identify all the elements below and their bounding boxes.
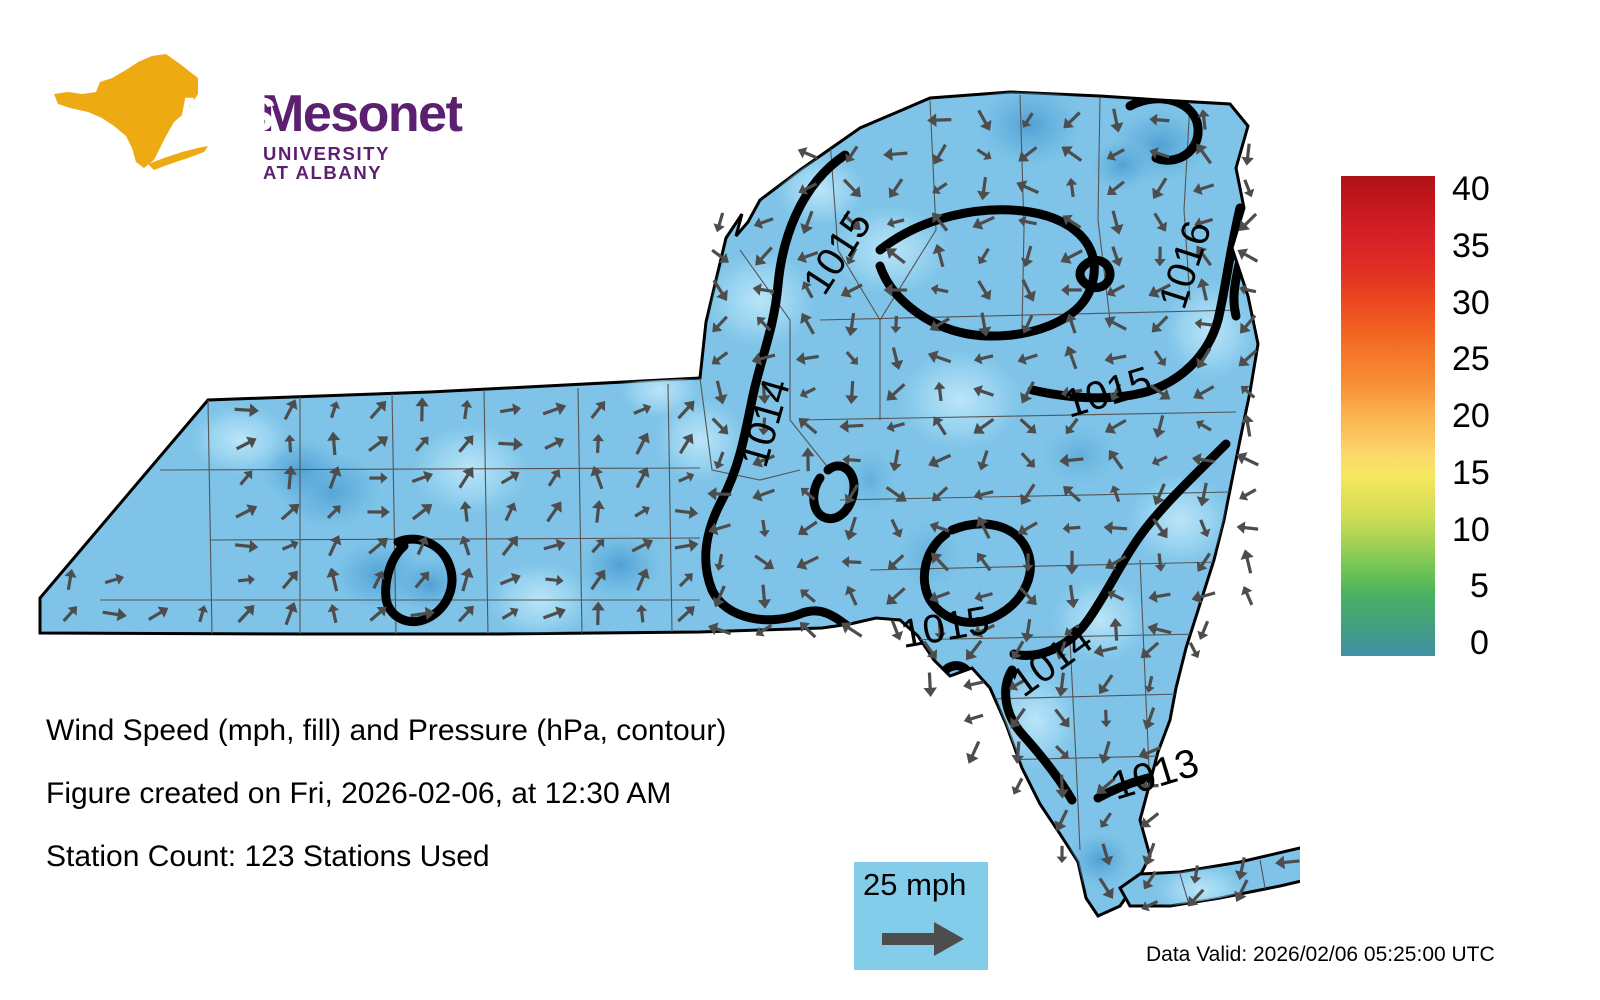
logo-nys-text: NYS [178, 92, 274, 140]
data-valid-timestamp: Data Valid: 2026/02/06 05:25:00 UTC [1146, 944, 1495, 965]
colorbar-tick-10: 10 [1452, 513, 1490, 547]
wind-barb [1056, 846, 1067, 863]
caption-title: Wind Speed (mph, fill) and Pressure (hPa… [46, 716, 866, 746]
wind-barb [1009, 776, 1027, 797]
colorbar-tick-40: 40 [1452, 172, 1490, 206]
caption-created: Figure created on Fri, 2026-02-06, at 12… [46, 779, 866, 809]
colorbar-tick-35: 35 [1452, 229, 1490, 263]
colorbar-gradient [1341, 176, 1435, 656]
wind-speed-reference-key: 25 mph [854, 862, 988, 970]
colorbar-tick-20: 20 [1452, 399, 1490, 433]
wind-barb [923, 672, 938, 697]
wind-barb [1238, 548, 1257, 575]
nys-mesonet-logo: NYS Mesonet UNIVERSITY AT ALBANY [48, 52, 398, 177]
wind-barb [1236, 520, 1259, 535]
colorbar-tick-5: 5 [1470, 569, 1489, 603]
figure-caption: Wind Speed (mph, fill) and Pressure (hPa… [46, 716, 866, 905]
logo-mesonet-text: Mesonet [261, 88, 461, 140]
colorbar-tick-30: 30 [1452, 286, 1490, 320]
wind-barb [962, 710, 985, 727]
logo-university-text: UNIVERSITY AT ALBANY [263, 145, 398, 182]
wind-barb [1194, 619, 1213, 642]
wind-barb [711, 211, 728, 234]
wind-barb [1236, 485, 1258, 505]
caption-station-count: Station Count: 123 Stations Used [46, 842, 866, 872]
colorbar-tick-15: 15 [1452, 456, 1490, 490]
colorbar-tick-25: 25 [1452, 342, 1490, 376]
wind-barb [1238, 584, 1257, 608]
colorbar-tick-0: 0 [1470, 626, 1489, 660]
wind-barb [962, 739, 985, 767]
wind-speed-colorbar [1341, 176, 1435, 656]
colorbar-tick-labels: 4035302520151050 [1452, 176, 1542, 656]
wind-key-label: 25 mph [863, 869, 966, 900]
right-arrow-icon [882, 922, 964, 956]
